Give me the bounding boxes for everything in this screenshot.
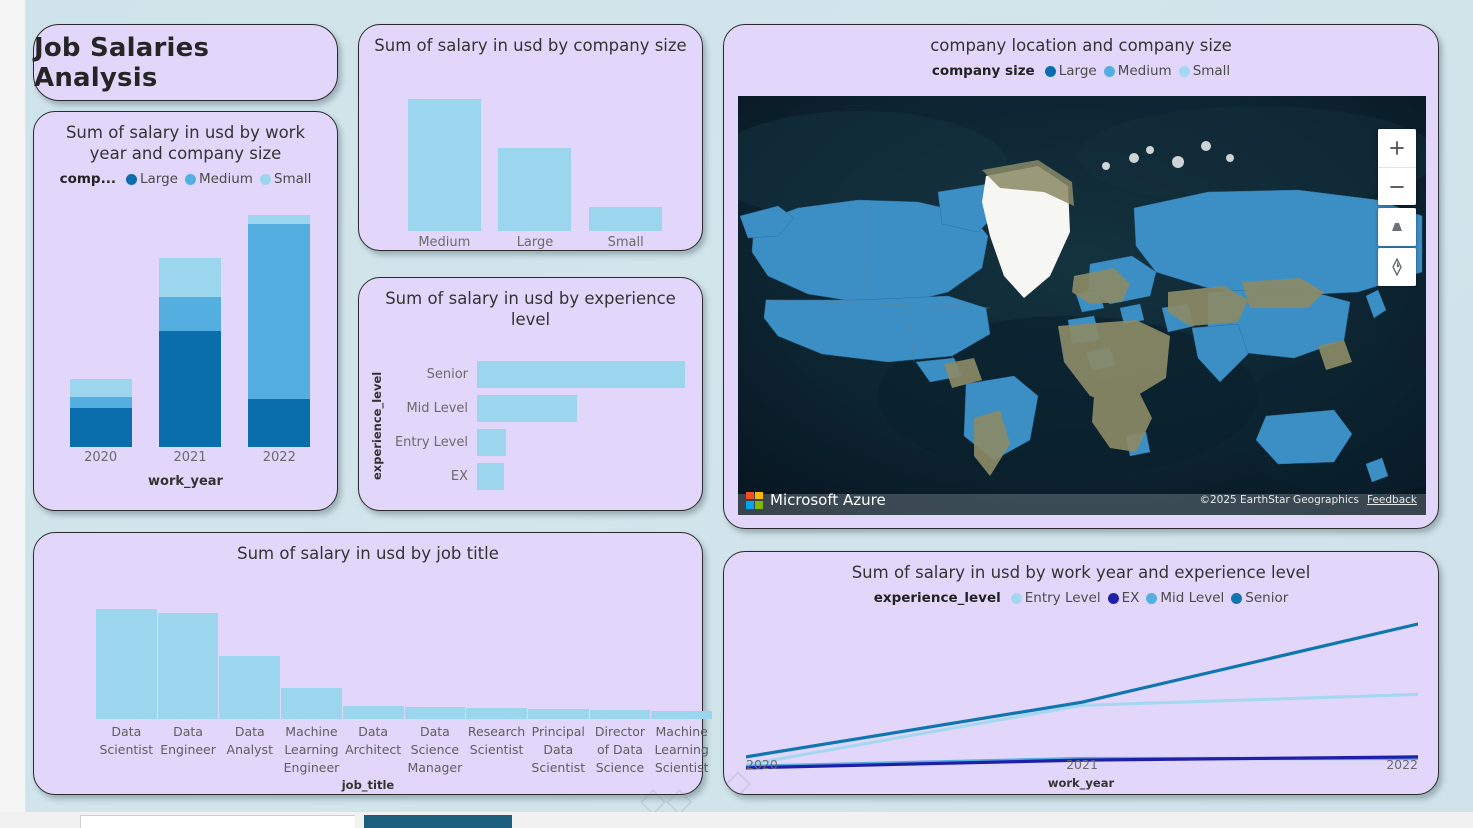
map-attribution: ©2025 EarthStar Geographics Feedback <box>1199 494 1417 506</box>
map-compass-icon[interactable] <box>1378 248 1416 286</box>
x-tick-data-analyst: Data Analyst <box>219 723 280 777</box>
legend-swatch-large <box>126 174 137 185</box>
stack-segment-medium[interactable] <box>159 297 221 331</box>
azure-brand: Microsoft Azure <box>746 491 886 509</box>
report-title-card: Job Salaries Analysis <box>33 24 338 101</box>
bar-data-science-manager[interactable] <box>405 707 466 719</box>
map-zoom-controls[interactable] <box>1378 129 1416 205</box>
legend-item-small[interactable]: Small <box>260 171 312 187</box>
bar-medium[interactable] <box>408 99 481 231</box>
stack-segment-small[interactable] <box>159 258 221 297</box>
x-tick-director-of-data-science: Director of Data Science <box>590 723 651 777</box>
map-pitch-icon[interactable] <box>1378 208 1416 246</box>
stack-segment-large[interactable] <box>159 331 221 447</box>
bar-large[interactable] <box>498 148 571 231</box>
stacked-column-2022[interactable] <box>248 215 310 447</box>
legend-item-mid-level[interactable]: Mid Level <box>1146 590 1224 606</box>
legend-label-ex: EX <box>1122 590 1140 606</box>
map-basemap-svg <box>738 96 1426 515</box>
chart-title: Sum of salary in usd by job title <box>34 533 702 564</box>
legend-title: experience_level <box>874 590 1001 606</box>
chart-title: Sum of salary in usd by work year and ex… <box>724 552 1438 583</box>
stack-segment-large[interactable] <box>248 399 310 447</box>
bar-senior[interactable] <box>477 361 685 388</box>
map-compass-control[interactable] <box>1378 248 1416 286</box>
x-tick-2022: 2022 <box>1386 757 1418 772</box>
bar-data-analyst[interactable] <box>219 656 280 719</box>
legend-item-medium[interactable]: Medium <box>1104 63 1172 79</box>
company-size-bar-plot[interactable] <box>399 99 671 231</box>
job-title-x-axis-labels: Data ScientistData EngineerData AnalystM… <box>96 723 712 777</box>
azure-brand-label: Microsoft Azure <box>770 491 886 509</box>
bar-data-architect[interactable] <box>343 706 404 719</box>
x-tick-2020: 2020 <box>70 450 132 465</box>
legend-swatch-ex <box>1108 593 1119 604</box>
stacked-column-2020[interactable] <box>70 215 132 447</box>
bar-machine-learning-engineer[interactable] <box>281 688 342 719</box>
map-zoom-in-icon[interactable] <box>1378 129 1416 167</box>
legend-item-ex[interactable]: EX <box>1108 590 1140 606</box>
bar-ex[interactable] <box>477 463 504 490</box>
x-tick-data-engineer: Data Engineer <box>158 723 219 777</box>
legend-label-small: Small <box>274 171 312 187</box>
chart-card-work-year-experience-level[interactable]: Sum of salary in usd by work year and ex… <box>723 551 1439 795</box>
x-tick-data-scientist: Data Scientist <box>96 723 157 777</box>
experience-level-y-axis-title: experience_level <box>369 366 385 486</box>
stacked-x-axis-title: work_year <box>34 474 337 489</box>
company-size-x-axis-labels: MediumLargeSmall <box>399 235 671 250</box>
legend-label-small: Small <box>1193 63 1231 79</box>
bar-machine-learning-scientist[interactable] <box>651 711 712 719</box>
experience-level-bar-plot[interactable]: SeniorMid LevelEntry LevelEX <box>387 358 692 493</box>
legend-swatch-small <box>1179 66 1190 77</box>
legend-item-small[interactable]: Small <box>1179 63 1231 79</box>
legend-label-large: Large <box>140 171 178 187</box>
x-tick-large: Large <box>498 235 571 250</box>
bar-director-of-data-science[interactable] <box>590 710 651 719</box>
map-pitch-control[interactable] <box>1378 208 1416 246</box>
legend-label-medium: Medium <box>199 171 253 187</box>
tab-active[interactable] <box>364 815 512 828</box>
legend-title: comp... <box>60 171 116 187</box>
bar-label-senior: Senior <box>387 367 477 382</box>
x-tick-2021: 2021 <box>159 450 221 465</box>
x-tick-data-science-manager: Data Science Manager <box>405 723 466 777</box>
stack-segment-small[interactable] <box>70 379 132 397</box>
line-chart-x-axis-labels: 202020212022 <box>746 757 1418 772</box>
legend-label-large: Large <box>1059 63 1097 79</box>
chart-title: Sum of salary in usd by company size <box>359 25 702 56</box>
bar-principal-data-scientist[interactable] <box>528 709 589 719</box>
x-tick-medium: Medium <box>408 235 481 250</box>
legend-swatch-large <box>1045 66 1056 77</box>
x-tick-small: Small <box>589 235 662 250</box>
line-series-entry-level[interactable] <box>746 694 1418 764</box>
stack-segment-large[interactable] <box>70 408 132 447</box>
map-copyright: ©2025 EarthStar Geographics <box>1199 494 1359 506</box>
x-tick-2022: 2022 <box>248 450 310 465</box>
line-chart-x-axis-title: work_year <box>724 776 1438 790</box>
legend-title: company size <box>932 63 1035 79</box>
microsoft-azure-logo-icon <box>746 492 763 509</box>
left-edge-sliver <box>0 0 26 812</box>
chart-card-company-size[interactable]: Sum of salary in usd by company size Med… <box>358 24 703 251</box>
map-footer: Microsoft Azure ©2025 EarthStar Geograph… <box>738 485 1426 515</box>
bar-small[interactable] <box>589 207 662 231</box>
chart-card-experience-level[interactable]: Sum of salary in usd by experience level… <box>358 277 703 511</box>
line-chart-svg <box>746 620 1418 775</box>
bar-research-scientist[interactable] <box>466 708 527 719</box>
legend-label-entry-level: Entry Level <box>1025 590 1101 606</box>
chart-legend[interactable]: comp... Large Medium Small <box>34 164 337 187</box>
bar-data-engineer[interactable] <box>158 613 219 719</box>
legend-label-senior: Senior <box>1245 590 1288 606</box>
x-tick-machine-learning-engineer: Machine Learning Engineer <box>281 723 342 777</box>
legend-item-entry-level[interactable]: Entry Level <box>1011 590 1101 606</box>
chart-legend[interactable]: experience_level Entry Level EX Mid Leve… <box>724 583 1438 606</box>
chart-title: Sum of salary in usd by experience level <box>359 278 702 330</box>
x-tick-machine-learning-scientist: Machine Learning Scientist <box>651 723 712 777</box>
bar-row-entry-level[interactable]: Entry Level <box>387 427 692 457</box>
legend-label-medium: Medium <box>1118 63 1172 79</box>
stacked-bar-plot[interactable] <box>56 215 324 447</box>
bar-label-ex: EX <box>387 469 477 484</box>
bar-label-mid-level: Mid Level <box>387 401 477 416</box>
bar-row-senior[interactable]: Senior <box>387 360 692 390</box>
x-tick-principal-data-scientist: Principal Data Scientist <box>528 723 589 777</box>
job-title-x-axis-title: job_title <box>34 778 702 792</box>
legend-label-mid-level: Mid Level <box>1160 590 1224 606</box>
legend-swatch-entry-level <box>1011 593 1022 604</box>
tab-blank[interactable] <box>80 815 355 828</box>
chart-title: company location and company size <box>724 25 1438 56</box>
legend-swatch-medium <box>1104 66 1115 77</box>
stack-segment-small[interactable] <box>248 215 310 224</box>
bottom-tab-strip <box>0 812 1473 828</box>
chart-card-job-title[interactable]: Sum of salary in usd by job title Data S… <box>33 532 703 795</box>
bar-data-scientist[interactable] <box>96 609 157 719</box>
page-title: Job Salaries Analysis <box>34 25 337 100</box>
legend-item-senior[interactable]: Senior <box>1231 590 1288 606</box>
map-canvas[interactable]: Microsoft Azure ©2025 EarthStar Geograph… <box>738 96 1426 515</box>
legend-swatch-senior <box>1231 593 1242 604</box>
legend-item-medium[interactable]: Medium <box>185 171 253 187</box>
job-title-bar-plot[interactable] <box>96 609 712 719</box>
stack-segment-medium[interactable] <box>70 397 132 408</box>
x-tick-research-scientist: Research Scientist <box>466 723 527 777</box>
bar-row-mid-level[interactable]: Mid Level <box>387 394 692 424</box>
chart-card-company-location-map[interactable]: company location and company size compan… <box>723 24 1439 529</box>
map-feedback-link[interactable]: Feedback <box>1367 494 1417 506</box>
x-tick-2021: 2021 <box>1066 757 1098 772</box>
x-tick-data-architect: Data Architect <box>343 723 404 777</box>
chart-title: Sum of salary in usd by work year and co… <box>34 112 337 164</box>
chart-card-work-year-company-size[interactable]: Sum of salary in usd by work year and co… <box>33 111 338 511</box>
line-series-senior[interactable] <box>746 624 1418 757</box>
x-tick-2020: 2020 <box>746 757 778 772</box>
line-chart-plot[interactable] <box>746 620 1418 775</box>
stacked-x-axis-labels: 202020212022 <box>56 450 324 465</box>
stacked-column-2021[interactable] <box>159 215 221 447</box>
bar-mid-level[interactable] <box>477 395 577 422</box>
report-canvas: Job Salaries Analysis Sum of salary in u… <box>0 0 1473 812</box>
legend-swatch-small <box>260 174 271 185</box>
bar-row-ex[interactable]: EX <box>387 461 692 491</box>
bar-label-entry-level: Entry Level <box>387 435 477 450</box>
legend-swatch-medium <box>185 174 196 185</box>
map-zoom-out-icon[interactable] <box>1378 167 1416 205</box>
legend-item-large[interactable]: Large <box>1045 63 1097 79</box>
stack-segment-medium[interactable] <box>248 224 310 399</box>
legend-item-large[interactable]: Large <box>126 171 178 187</box>
legend-swatch-mid-level <box>1146 593 1157 604</box>
bar-entry-level[interactable] <box>477 429 506 456</box>
map-legend[interactable]: company size Large Medium Small <box>724 56 1438 79</box>
